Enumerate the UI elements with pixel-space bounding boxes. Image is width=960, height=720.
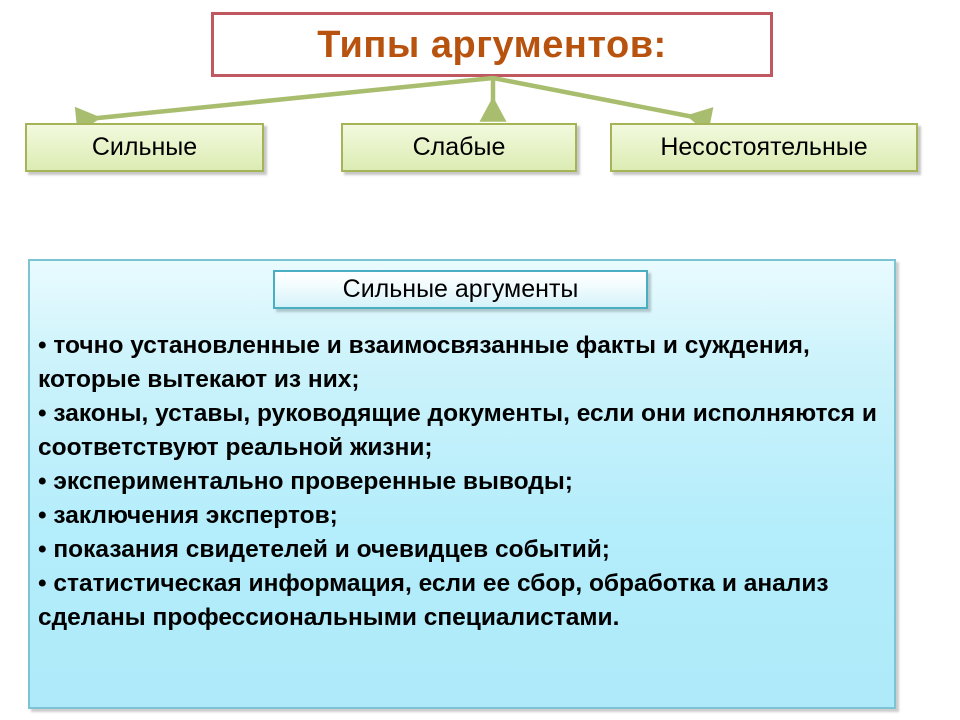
list-item: • заключения экспертов; (38, 499, 890, 533)
category-box-weak[interactable]: Слабые (341, 123, 577, 172)
list-item: • экспериментально проверенные выводы; (38, 465, 890, 499)
page-title: Типы аргументов: (317, 26, 666, 64)
category-label: Слабые (413, 135, 506, 160)
detail-panel-header: Сильные аргументы (273, 270, 648, 309)
category-label: Несостоятельные (660, 135, 867, 160)
strong-arguments-list: • точно установленные и взаимосвязанные … (38, 329, 890, 635)
category-label: Сильные (92, 135, 197, 160)
detail-panel: Сильные аргументы • точно установленные … (28, 259, 896, 709)
list-item: • точно установленные и взаимосвязанные … (38, 329, 890, 397)
arrow-to-category-0 (78, 78, 493, 120)
category-box-invalid[interactable]: Несостоятельные (610, 123, 918, 172)
arrow-to-category-2 (493, 78, 709, 120)
category-box-strong[interactable]: Сильные (25, 123, 264, 172)
list-item: • показания свидетелей и очевидцев событ… (38, 533, 890, 567)
slide-title-box: Типы аргументов: (211, 12, 773, 77)
list-item: • законы, уставы, руководящие документы,… (38, 397, 890, 465)
list-item: • статистическая информация, если ее сбо… (38, 567, 890, 635)
detail-panel-header-label: Сильные аргументы (343, 277, 579, 302)
